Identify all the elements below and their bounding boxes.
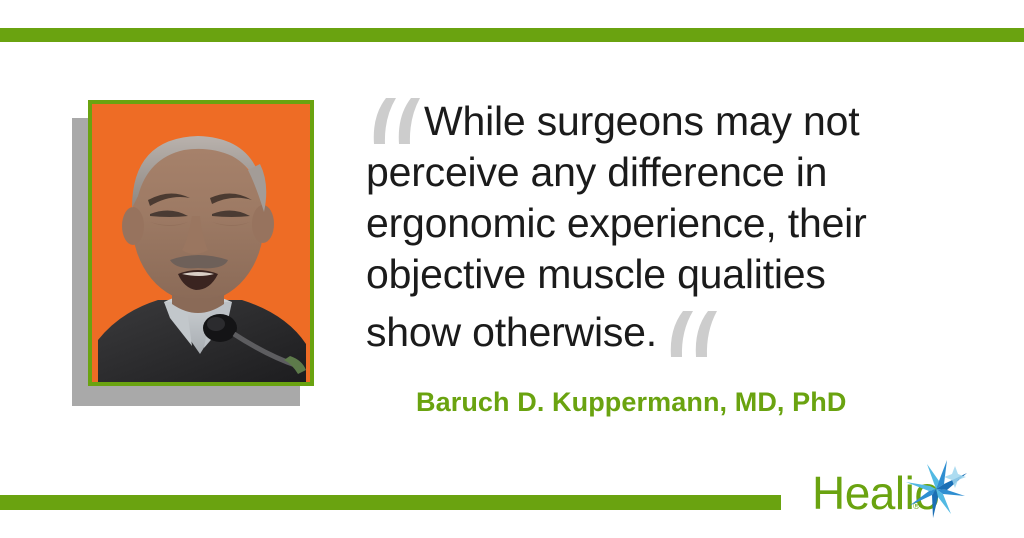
bottom-green-rule <box>0 495 781 510</box>
quote-card: While surgeons may not perceive any diff… <box>0 0 1024 538</box>
quote-block: While surgeons may not perceive any diff… <box>366 96 966 358</box>
portrait-frame <box>88 100 314 386</box>
quote-line: While surgeons may not <box>366 96 966 147</box>
speaker-photo <box>92 104 310 382</box>
quote-line: objective muscle qualities <box>366 249 966 300</box>
healio-logo[interactable]: Healio ® <box>812 466 962 520</box>
top-green-rule <box>0 28 1024 42</box>
quote-line: ergonomic experience, their <box>366 198 966 249</box>
close-quote-icon <box>663 311 717 357</box>
quote-line: perceive any difference in <box>366 147 966 198</box>
healio-star-icon <box>905 460 967 518</box>
portrait-block <box>72 100 314 406</box>
quote-line: show otherwise. <box>366 309 657 355</box>
quote-last-line-row: show otherwise. <box>366 300 966 358</box>
open-quote-icon <box>366 98 420 144</box>
attribution-name: Baruch D. Kuppermann, MD, PhD <box>416 387 846 418</box>
